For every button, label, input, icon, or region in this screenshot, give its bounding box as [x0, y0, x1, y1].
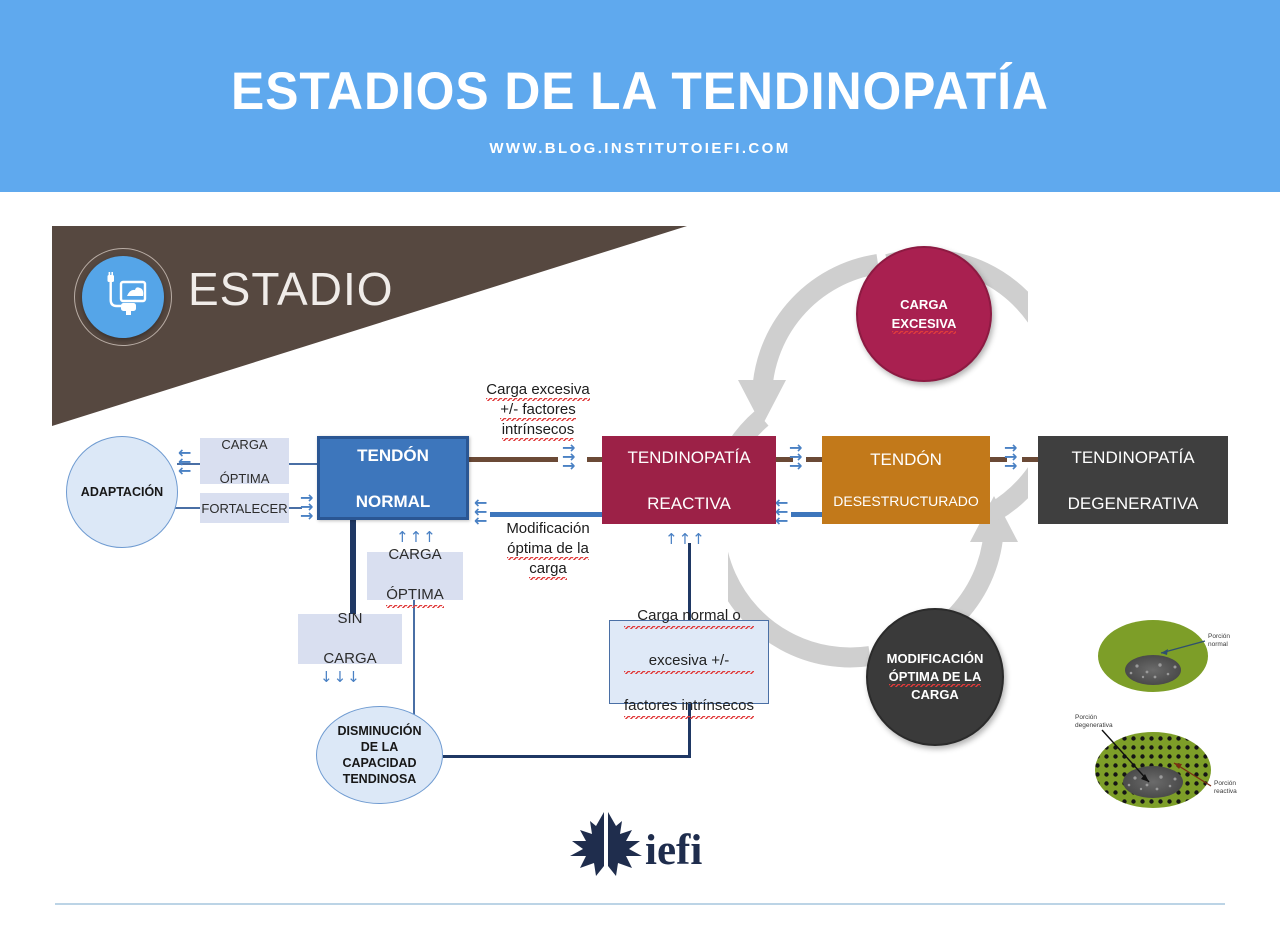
histology-label-porcion-reactiva: Porción reactiva: [1214, 780, 1237, 796]
monitor-plug-icon: [82, 256, 164, 338]
node-fortalecer[interactable]: FORTALECER: [200, 493, 289, 523]
node-tendon-normal[interactable]: TENDÓN NORMAL: [317, 436, 469, 520]
node-sin-carga-label: SIN CARGA: [323, 609, 376, 669]
node-tendinopatia-degenerativa[interactable]: TENDINOPATÍA DEGENERATIVA: [1038, 436, 1228, 524]
node-sin-carga[interactable]: SIN CARGA: [298, 614, 402, 664]
bottom-divider: [55, 903, 1225, 905]
annotation-carga-excesiva: Carga excesiva +/- factores intrínsecos: [468, 380, 608, 440]
arrow-cluster-desest-to-degen: →→→: [1004, 443, 1017, 470]
arrow-cluster-adaptacion-left: ←←←: [178, 448, 191, 475]
arrow-triple-up-reactiva: ↑↑↑: [665, 530, 706, 548]
connector-cargaoptima-tendonnormal: [288, 463, 320, 465]
node-tendon-desestructurado[interactable]: TENDÓN DESESTRUCTURADO: [822, 436, 990, 524]
node-tendinopatia-degenerativa-label: TENDINOPATÍA DEGENERATIVA: [1068, 446, 1199, 515]
header-website-url: WWW.BLOG.INSTITUTOIEFI.COM: [0, 140, 1280, 157]
node-modificacion-circle[interactable]: MODIFICACIÓN ÓPTIMA DE LA CARGA: [866, 608, 1004, 746]
node-tendinopatia-reactiva[interactable]: TENDINOPATÍA REACTIVA: [602, 436, 776, 524]
connector-brown-reactiva-desest-b: [806, 457, 823, 462]
node-disminucion-label: DISMINUCIÓN DE LA CAPACIDAD TENDINOSA: [337, 723, 421, 787]
histology-label-porcion-degenerativa: Porción degenerativa: [1075, 714, 1113, 730]
node-carga-excesiva-circle[interactable]: CARGA EXCESIVA: [856, 246, 992, 382]
node-carga-optima-left-label: CARGA ÓPTIMA: [220, 436, 270, 487]
connector-blue-desest-reactiva: [791, 512, 823, 517]
node-adaptacion-label: ADAPTACIÓN: [81, 485, 163, 499]
node-modificacion-label: MODIFICACIÓN ÓPTIMA DE LA CARGA: [887, 650, 984, 704]
connector-brown-desest-degen-b: [1022, 457, 1038, 462]
note-carga-normal-text: Carga normal o excesiva +/- factores int…: [624, 605, 754, 719]
arrow-triple-up-tendonnormal: ↑↑↑: [396, 528, 437, 546]
arrow-cluster-normal-to-reactiva: →→→: [562, 443, 575, 470]
banner-label: ESTADIO: [188, 262, 394, 316]
histology-illustration: Porción normal Porción degenerativa Porc…: [1075, 608, 1275, 828]
node-carga-optima-mid-label: CARGA ÓPTIMA: [386, 545, 444, 608]
arrow-cluster-fortalecer-right: →→→: [300, 493, 313, 520]
node-tendinopatia-reactiva-label: TENDINOPATÍA REACTIVA: [627, 446, 750, 515]
arrow-cluster-reactiva-to-normal: ←←←: [474, 498, 487, 525]
connector-brown-normal-reactiva-a: [468, 457, 558, 462]
page-header: ESTADIOS DE LA TENDINOPATÍA WWW.BLOG.INS…: [0, 0, 1280, 192]
arrow-triple-down-sincarga: ↓↓↓: [320, 668, 361, 686]
node-tendon-normal-label: TENDÓN NORMAL: [356, 444, 431, 513]
node-tendon-desestructurado-label: TENDÓN DESESTRUCTURADO: [833, 449, 978, 512]
node-carga-optima-left[interactable]: CARGA ÓPTIMA: [200, 438, 289, 484]
arrow-cluster-desest-to-reactiva: ←←←: [775, 498, 788, 525]
node-carga-excesiva-label: CARGA EXCESIVA: [892, 295, 957, 333]
node-adaptacion[interactable]: ADAPTACIÓN: [66, 436, 178, 548]
connector-disminucion-right: [443, 755, 691, 758]
node-fortalecer-label: FORTALECER: [201, 500, 287, 517]
note-carga-normal-excesiva: Carga normal o excesiva +/- factores int…: [609, 620, 769, 704]
node-disminucion-capacidad[interactable]: DISMINUCIÓN DE LA CAPACIDAD TENDINOSA: [316, 706, 443, 804]
node-carga-optima-mid[interactable]: CARGA ÓPTIMA: [367, 552, 463, 600]
histology-label-porcion-normal: Porción normal: [1208, 633, 1230, 649]
iefi-logo-text: iefi: [645, 826, 702, 875]
annotation-modificacion-optima: Modificación óptima de la carga: [489, 519, 607, 579]
connector-blue-reactiva-normal: [490, 512, 605, 517]
arrow-cluster-reactiva-to-desest: →→→: [789, 443, 802, 470]
page-title: ESTADIOS DE LA TENDINOPATÍA: [38, 62, 1241, 122]
connector-cargaoptima-disminucion: [413, 600, 415, 724]
